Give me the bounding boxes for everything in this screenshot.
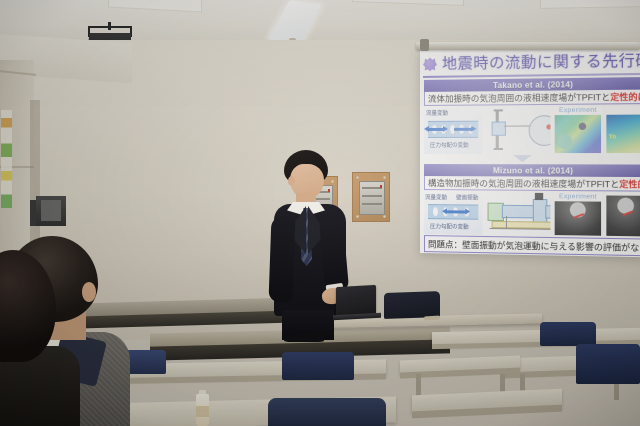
vibration-rig-diagram (485, 192, 550, 236)
problem-statement: 問題点：壁面振動が気泡運動に与える影響の評価がなさ (424, 235, 640, 256)
flower-bullet-icon (423, 57, 437, 71)
attendee-far-left (0, 250, 66, 426)
flow-arrow (454, 128, 472, 131)
presenter-ear (288, 176, 295, 186)
duct-label-bottom: 圧力勾配の変動 (430, 222, 469, 231)
experiment-caption: Experiment (554, 107, 603, 115)
screen-roller-bar (416, 42, 640, 50)
slide-title-row: 地震時の流動に関する先行研究 (423, 49, 640, 76)
figure-row-mizuno: 流量変動 壁面振動 圧力勾配の変動 (424, 192, 640, 237)
poster-strip (1, 110, 12, 208)
block-text-emphasis: 定性的に (610, 90, 640, 103)
block-text: 流体加振時の気泡周囲の液相速度場がTPFITと定性的に (424, 90, 640, 106)
slide-title: 地震時の流動に関する先行研究 (442, 52, 640, 72)
block-text-plain: 構造物加振時の気泡周囲の液相速度場がTPFITと (428, 177, 619, 190)
wall-control-box[interactable] (359, 181, 385, 215)
laptop-base (333, 313, 381, 321)
bubble-photo (555, 201, 601, 236)
piv-field-image: Yo (606, 115, 640, 154)
left-equipment (36, 196, 66, 226)
piv-overlay-text: Yo (609, 134, 617, 140)
duct-diagram: 流量変動 壁面振動 圧力勾配の変動 (424, 192, 482, 235)
flow-arrow (446, 210, 466, 213)
experiment-bubble-image: Experiment (554, 193, 603, 237)
duct-label-bottom: 圧力勾配の変動 (430, 141, 469, 149)
block-text: 構造物加振時の気泡周囲の液相速度場がTPFITと定性的 (424, 176, 640, 192)
attendee-center (268, 398, 386, 426)
lecture-room-photo: 地震時の流動に関する先行研究 Takano et al. (2014) 流体加振… (0, 0, 640, 426)
experiment-piv-1: Experiment (554, 107, 603, 155)
laptop-lid (336, 285, 376, 317)
down-arrow-icon (513, 155, 532, 162)
experiment-caption: Experiment (554, 193, 603, 201)
laptop[interactable] (336, 286, 380, 320)
chair[interactable] (576, 344, 640, 384)
observation-circle (529, 115, 551, 146)
presenter-shoes (284, 334, 324, 342)
duct-label-top: 流量変動 (425, 193, 447, 201)
duct-label-wall-vibration: 壁面振動 (456, 193, 478, 201)
slide-block-takano: Takano et al. (2014) 流体加振時の気泡周囲の液相速度場がTP… (424, 77, 640, 106)
apparatus-diagram (485, 107, 550, 154)
experiment-bubble-image-2 (605, 193, 640, 237)
water-bottle[interactable] (196, 390, 209, 426)
laptop-bag (384, 291, 440, 319)
presenter-arm (269, 216, 296, 303)
chair[interactable] (540, 322, 596, 346)
duct-diagram: 流量変動 圧力勾配の変動 (424, 108, 482, 155)
chair[interactable] (282, 352, 354, 380)
slide: 地震時の流動に関する先行研究 Takano et al. (2014) 流体加振… (420, 45, 640, 258)
slide-block-mizuno: Mizuno et al. (2014) 構造物加振時の気泡周囲の液相速度場がT… (424, 164, 640, 192)
figure-row-takano: 流量変動 圧力勾配の変動 (424, 106, 640, 154)
duct-label-top: 流量変動 (426, 109, 448, 117)
projection-screen: 地震時の流動に関する先行研究 Takano et al. (2014) 流体加振… (420, 45, 640, 258)
attendee-ear (82, 282, 96, 302)
block-header: Mizuno et al. (2014) (424, 164, 640, 177)
block-text-plain: 流体加振時の気泡周囲の液相速度場がTPFITと (428, 90, 610, 104)
experiment-piv-2: Yo (605, 106, 640, 154)
flow-arrow (428, 128, 444, 131)
bubble-photo (606, 195, 640, 236)
block-text-emphasis: 定性的 (619, 177, 640, 190)
bottle-label (196, 406, 209, 417)
piv-field-image (555, 115, 601, 153)
